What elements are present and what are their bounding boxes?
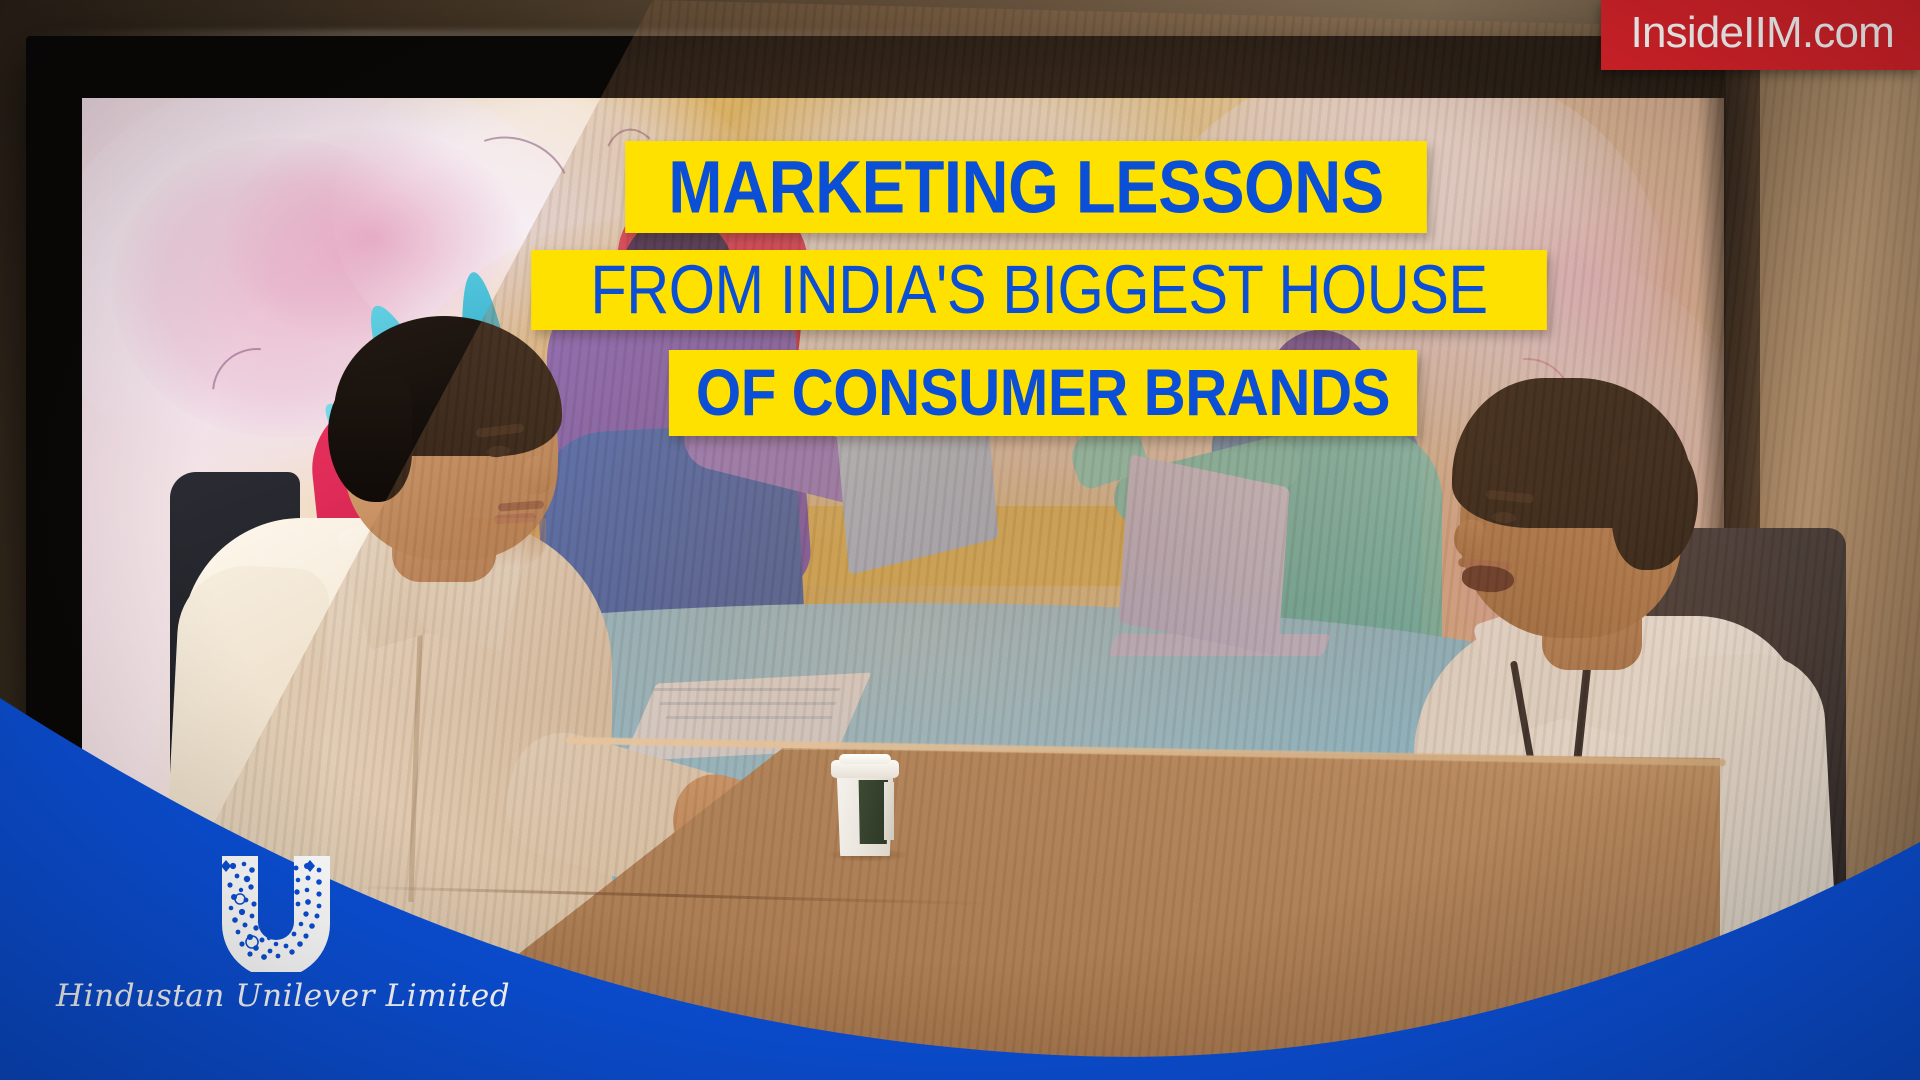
unilever-u-icon	[206, 852, 346, 972]
sponsor-name: Hindustan Unilever Limited	[56, 978, 476, 1014]
insideiim-badge-text: InsideIIM.com	[1631, 11, 1894, 55]
insideiim-badge[interactable]: InsideIIM.com	[1601, 0, 1920, 70]
video-thumbnail: Hindustan Unilever Limited MARKETING LES…	[0, 0, 1920, 1080]
sponsor-logo: Hindustan Unilever Limited	[56, 852, 476, 1042]
